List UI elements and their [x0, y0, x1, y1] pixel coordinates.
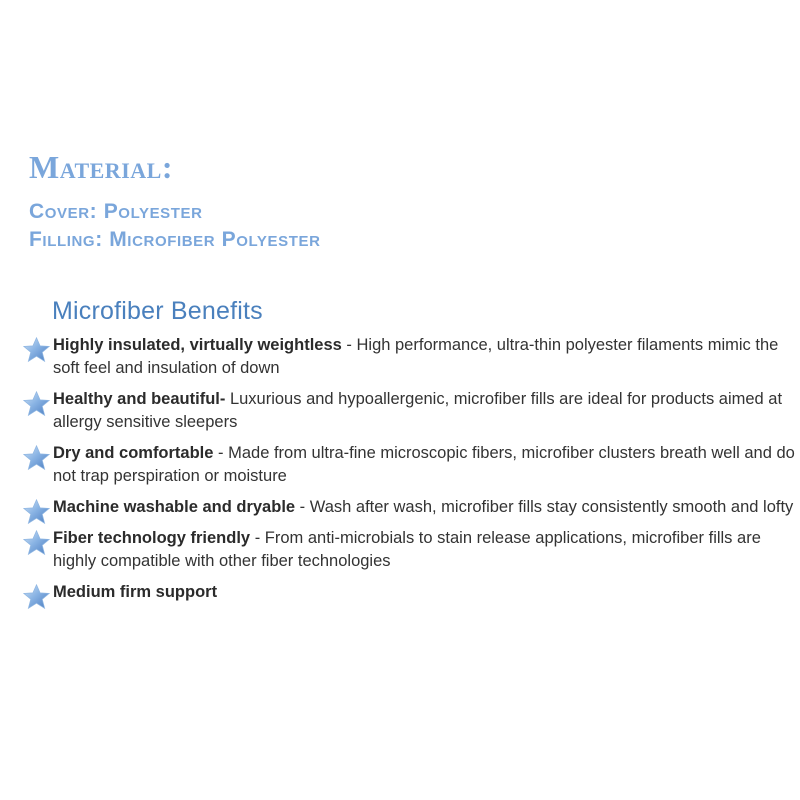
list-item-text: Medium firm support	[53, 581, 797, 604]
list-item: Machine washable and dryable - Wash afte…	[22, 496, 797, 519]
benefits-section: Microfiber Benefits	[22, 296, 797, 612]
benefits-heading: Microfiber Benefits	[52, 296, 797, 326]
list-item: Fiber technology friendly - From anti-mi…	[22, 527, 797, 573]
material-heading: Material:	[29, 150, 729, 184]
benefits-list: Highly insulated, virtually weightless -…	[22, 334, 797, 604]
list-item-text: Fiber technology friendly - From anti-mi…	[53, 527, 797, 573]
document-page: Material: Cover: Polyester Filling: Micr…	[0, 0, 800, 800]
list-item-text: Dry and comfortable - Made from ultra-fi…	[53, 442, 797, 488]
star-icon	[22, 335, 51, 364]
list-item: Medium firm support	[22, 581, 797, 604]
list-item-lead: Fiber technology friendly	[53, 529, 250, 547]
list-item-lead: Highly insulated, virtually weightless	[53, 336, 342, 354]
material-filling-line: Filling: Microfiber Polyester	[29, 226, 729, 254]
star-icon	[22, 389, 51, 418]
list-item: Healthy and beautiful- Luxurious and hyp…	[22, 388, 797, 434]
list-item-lead: Machine washable and dryable	[53, 498, 295, 516]
material-cover-line: Cover: Polyester	[29, 198, 729, 226]
list-item-lead: Medium firm support	[53, 583, 217, 601]
star-icon	[22, 443, 51, 472]
list-item: Dry and comfortable - Made from ultra-fi…	[22, 442, 797, 488]
list-item-text: Machine washable and dryable - Wash afte…	[53, 496, 797, 519]
star-icon	[22, 497, 51, 526]
star-icon	[22, 582, 51, 611]
list-item-text: Healthy and beautiful- Luxurious and hyp…	[53, 388, 797, 434]
list-item-rest: - Wash after wash, microfiber fills stay…	[295, 498, 793, 516]
list-item-text: Highly insulated, virtually weightless -…	[53, 334, 797, 380]
list-item-lead: Dry and comfortable	[53, 444, 213, 462]
material-section: Material: Cover: Polyester Filling: Micr…	[29, 150, 729, 254]
list-item: Highly insulated, virtually weightless -…	[22, 334, 797, 380]
list-item-lead: Healthy and beautiful-	[53, 390, 225, 408]
star-icon	[22, 528, 51, 557]
